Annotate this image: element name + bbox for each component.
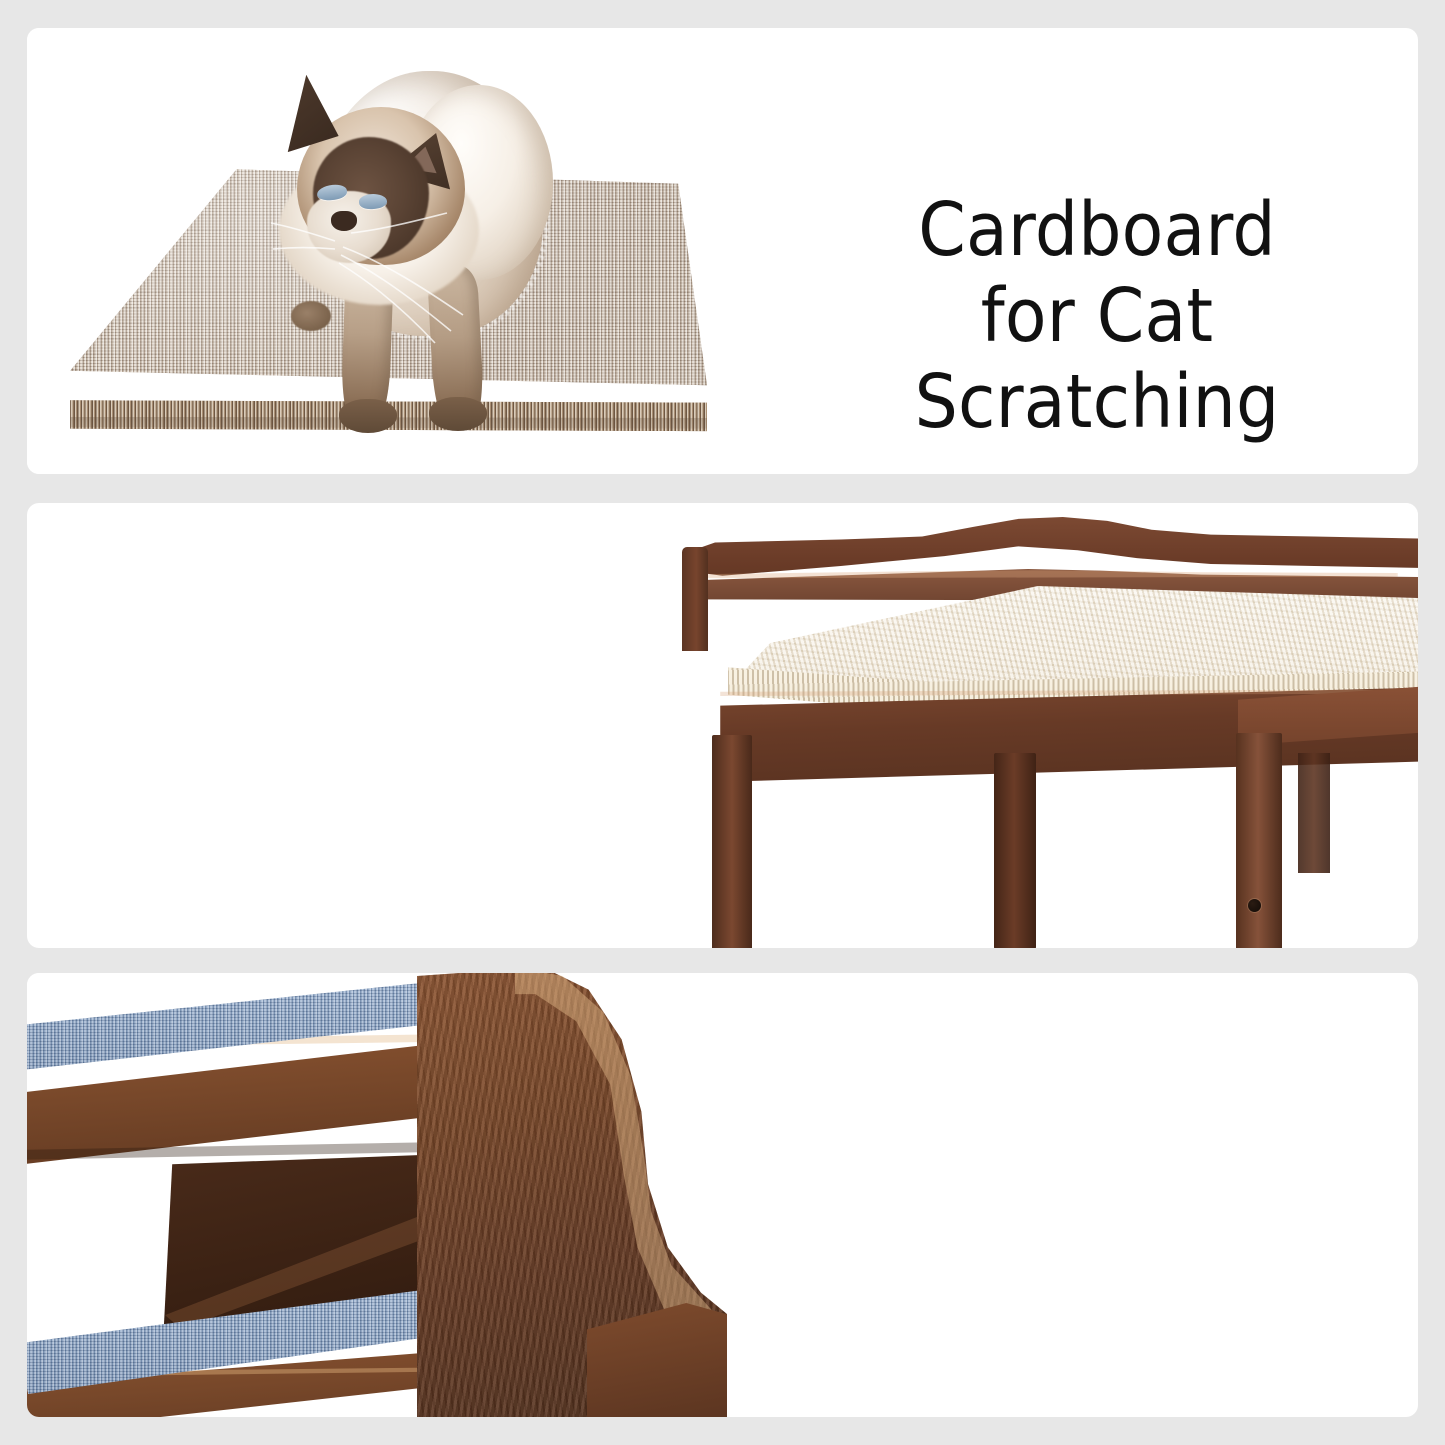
cardboard-scratcher-photo [27,28,727,474]
bench-backrest-post [682,547,708,651]
bench-screw [1248,899,1261,912]
feature-panel-treads: Carpeted Treads for Extra Grip [27,973,1418,1417]
feature-panel-cardboard-inner: Cardboard for Cat Scratching [27,28,1418,474]
feature-panel-treads-inner: Carpeted Treads for Extra Grip [27,973,1418,1417]
bench-leg-left [712,735,752,948]
wooden-bench [678,503,1418,948]
cat-illustration [235,51,565,474]
infographic-stage: Cardboard for Cat Scratching Removable C… [0,0,1445,1445]
bench-leg-middle [994,753,1036,948]
pet-stairs-photo [27,973,727,1417]
cat-paw-left [339,399,397,433]
bench-leg-rear [1298,753,1330,873]
feature-panel-cushion-inner: Removable Cushion [27,503,1418,948]
bench-cushion-photo [678,503,1418,948]
feature-panel-cardboard: Cardboard for Cat Scratching [27,28,1418,474]
cat-paw-right [429,397,487,431]
bench-leg-right [1236,733,1282,948]
cat-whiskers [265,211,495,351]
feature-caption-cardboard: Cardboard for Cat Scratching [812,188,1382,445]
pet-stairs [27,973,727,1417]
scratcher-pad [67,133,707,463]
feature-panel-cushion: Removable Cushion [27,503,1418,948]
